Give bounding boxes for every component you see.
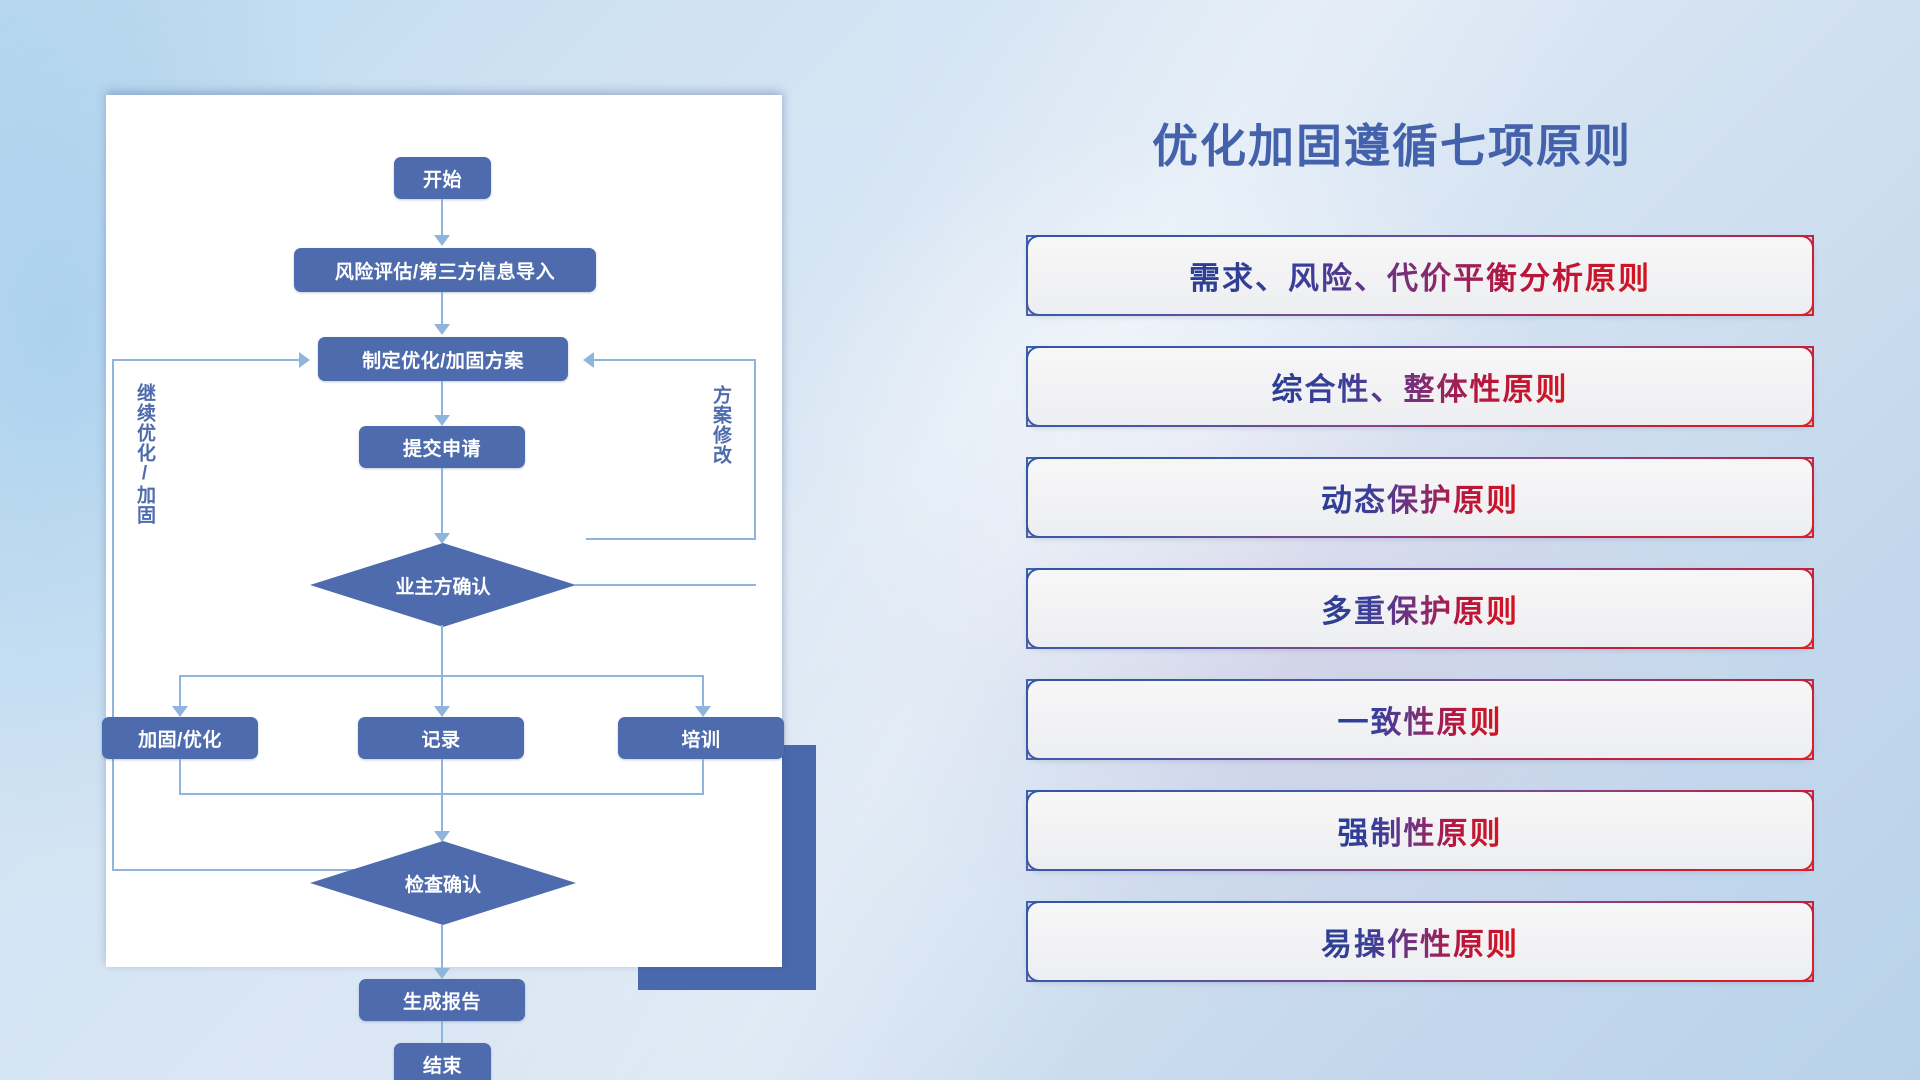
flow-node-label: 风险评估/第三方信息导入 <box>335 257 555 284</box>
slide-canvas: 开始 风险评估/第三方信息导入 制定优化/加固方案 继续优化/加固 方案修改 提… <box>0 0 1920 1080</box>
flow-node-label: 生成报告 <box>403 987 481 1014</box>
flow-node-training[interactable]: 培训 <box>618 717 784 759</box>
flow-node-label: 培训 <box>681 725 720 752</box>
connector-submit-to-owner <box>441 468 443 538</box>
flow-node-label: 制定优化/加固方案 <box>362 346 524 373</box>
connector-start-to-risk <box>441 199 443 237</box>
loop-left-label: 继续优化/加固 <box>130 383 154 525</box>
branch-down-right <box>702 675 704 709</box>
merge-up-right <box>702 759 704 795</box>
arrow-down-icon <box>434 968 450 979</box>
flow-node-label: 结束 <box>423 1051 462 1078</box>
connector-plan-to-submit <box>441 381 443 417</box>
loop-right-top <box>594 359 756 361</box>
flow-node-record[interactable]: 记录 <box>358 717 524 759</box>
principle-label: 动态保护原则 <box>1321 475 1519 520</box>
principle-label: 一致性原则 <box>1338 697 1503 742</box>
principle-card-3[interactable]: 动态保护原则 <box>1026 457 1814 538</box>
flow-node-check-confirm[interactable]: 检查确认 <box>310 841 576 925</box>
loop-left-vertical <box>112 359 114 871</box>
arrow-down-icon <box>434 324 450 335</box>
arrow-down-icon <box>434 415 450 426</box>
loop-left-top <box>112 359 300 361</box>
loop-right-bottom <box>586 538 756 540</box>
flowchart-card: 开始 风险评估/第三方信息导入 制定优化/加固方案 继续优化/加固 方案修改 提… <box>106 95 782 967</box>
branch-down-mid <box>441 675 443 709</box>
principle-card-2[interactable]: 综合性、整体性原则 <box>1026 346 1814 427</box>
flow-node-label: 业主方确认 <box>395 572 490 599</box>
principle-card-1[interactable]: 需求、风险、代价平衡分析原则 <box>1026 235 1814 316</box>
flow-node-end[interactable]: 结束 <box>394 1043 491 1080</box>
branch-down-left <box>179 675 181 709</box>
connector-owner-to-right-loop <box>574 584 756 586</box>
flow-node-risk-assessment[interactable]: 风险评估/第三方信息导入 <box>294 248 596 292</box>
flow-node-submit[interactable]: 提交申请 <box>359 426 525 468</box>
connector-check-to-report <box>441 925 443 971</box>
arrow-down-icon <box>172 706 188 717</box>
principle-label: 多重保护原则 <box>1321 586 1519 631</box>
flow-node-owner-confirm[interactable]: 业主方确认 <box>310 543 576 627</box>
principle-label: 需求、风险、代价平衡分析原则 <box>1189 253 1651 298</box>
page-title: 优化加固遵循七项原则 <box>1152 110 1632 176</box>
principle-card-4[interactable]: 多重保护原则 <box>1026 568 1814 649</box>
principle-label: 易操作性原则 <box>1321 919 1519 964</box>
flow-node-label: 加固/优化 <box>138 725 222 752</box>
principle-card-5[interactable]: 一致性原则 <box>1026 679 1814 760</box>
connector-owner-down <box>441 625 443 677</box>
merge-down-mid <box>441 759 443 834</box>
flow-node-label: 提交申请 <box>403 434 481 461</box>
principle-card-7[interactable]: 易操作性原则 <box>1026 901 1814 982</box>
arrow-down-icon <box>434 235 450 246</box>
principle-label: 综合性、整体性原则 <box>1272 364 1569 409</box>
flow-node-start[interactable]: 开始 <box>394 157 491 199</box>
arrow-left-icon <box>583 352 594 368</box>
flow-node-plan[interactable]: 制定优化/加固方案 <box>318 337 568 381</box>
flow-node-label: 检查确认 <box>405 870 481 897</box>
loop-right-vertical <box>754 359 756 539</box>
flow-node-label: 记录 <box>421 725 460 752</box>
connector-risk-to-plan <box>441 292 443 326</box>
principle-label: 强制性原则 <box>1338 808 1503 853</box>
merge-up-left <box>179 759 181 795</box>
arrow-right-icon <box>299 352 310 368</box>
arrow-down-icon <box>434 706 450 717</box>
flow-node-reinforce[interactable]: 加固/优化 <box>102 717 258 759</box>
flow-node-label: 开始 <box>423 165 462 192</box>
principle-card-6[interactable]: 强制性原则 <box>1026 790 1814 871</box>
flow-node-report[interactable]: 生成报告 <box>359 979 525 1021</box>
arrow-down-icon <box>695 706 711 717</box>
loop-right-label: 方案修改 <box>706 385 730 465</box>
